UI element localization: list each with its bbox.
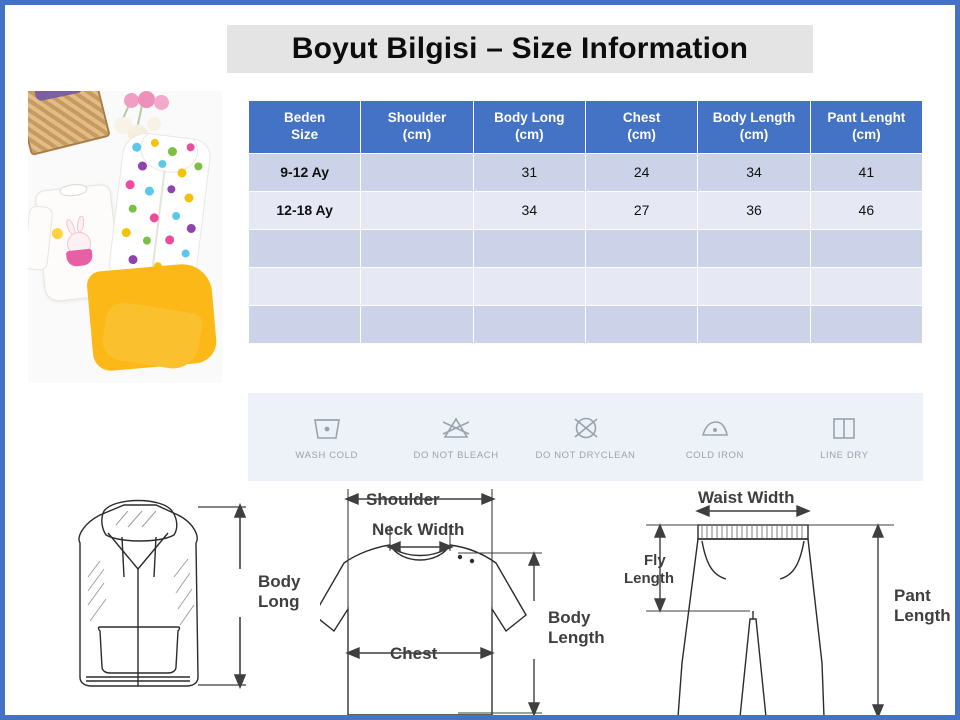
cell-shoulder: [361, 230, 472, 267]
polka-dot: [167, 185, 176, 194]
care-item-do-not-dryclean: DO NOT DRYCLEAN: [521, 413, 650, 461]
vest-body-long-label-line1: Body: [258, 572, 301, 591]
wash-cold-icon: [310, 413, 344, 443]
care-label: DO NOT DRYCLEAN: [536, 450, 636, 461]
table-row: 12-18 Ay 34 27 36 46: [249, 192, 922, 229]
pant-length-label-line2: Length: [894, 606, 951, 625]
cell-body-length: [698, 230, 809, 267]
cell-body-length: [698, 306, 809, 343]
header-line-1: Beden: [251, 110, 358, 127]
polka-dot: [142, 236, 151, 245]
vest-body-long-label-line2: Long: [258, 592, 300, 611]
hooded-vest-item: [107, 130, 212, 286]
cell-body-long: [474, 268, 585, 305]
cell-size: [249, 268, 360, 305]
hooded-vest-diagram: Body Long: [28, 481, 318, 720]
cell-shoulder: [361, 154, 472, 191]
cell-pant-lenght: 41: [811, 154, 922, 191]
care-label: LINE DRY: [820, 450, 868, 461]
care-label: WASH COLD: [295, 450, 358, 461]
care-item-do-not-bleach: DO NOT BLEACH: [391, 413, 520, 461]
line-dry-icon: [827, 413, 861, 443]
bunny-ear: [76, 215, 85, 233]
measurement-diagrams: Body Long: [10, 481, 960, 720]
polka-dot: [144, 186, 154, 196]
polka-dot: [128, 204, 137, 213]
fly-length-label-line1: Fly: [644, 552, 666, 569]
shirt-collar: [59, 183, 88, 198]
cell-size: 12-18 Ay: [249, 192, 360, 229]
cell-chest: 27: [586, 192, 697, 229]
care-item-line-dry: LINE DRY: [780, 413, 909, 461]
cell-chest: [586, 268, 697, 305]
table-header-row: Beden Size Shoulder (cm) Body Long (cm) …: [249, 101, 922, 153]
cell-body-long: 34: [474, 192, 585, 229]
cell-size: [249, 306, 360, 343]
care-instructions-strip: WASH COLD DO NOT BLEACH DO NOT DRYCL: [248, 393, 923, 481]
cell-pant-lenght: 46: [811, 192, 922, 229]
pants-diagram: Waist Width Fly Length Pant Length: [622, 481, 958, 720]
cell-body-length: 36: [698, 192, 809, 229]
cell-shoulder: [361, 268, 472, 305]
cold-iron-icon: [698, 413, 732, 443]
cell-shoulder: [361, 306, 472, 343]
flower-decor: [147, 117, 161, 131]
polka-dot: [184, 193, 194, 203]
pants-leg: [100, 300, 204, 372]
pants-item: [86, 262, 218, 372]
polka-dot: [177, 168, 187, 178]
care-label: COLD IRON: [686, 450, 744, 461]
size-information-page: Boyut Bilgisi – Size Information: [0, 0, 960, 720]
polka-dot: [128, 255, 138, 265]
header-line-2: (cm): [363, 127, 470, 144]
cell-size: [249, 230, 360, 267]
shoulder-label: Shoulder: [366, 490, 440, 509]
cell-body-length: [698, 268, 809, 305]
cell-pant-lenght: [811, 306, 922, 343]
care-item-cold-iron: COLD IRON: [650, 413, 779, 461]
sun-print: [51, 228, 63, 240]
cell-pant-lenght: [811, 268, 922, 305]
fly-length-label-line2: Length: [624, 570, 674, 587]
shirt-body-length-label-line2: Length: [548, 628, 605, 647]
cell-chest: [586, 306, 697, 343]
column-header-body-long: Body Long (cm): [474, 101, 585, 153]
do-not-dryclean-icon: [569, 413, 603, 443]
page-title-band: Boyut Bilgisi – Size Information: [227, 25, 813, 73]
polka-dot: [137, 161, 147, 171]
polka-dot: [172, 212, 181, 221]
page-title: Boyut Bilgisi – Size Information: [292, 32, 748, 66]
cell-size: 9-12 Ay: [249, 154, 360, 191]
neck-width-label: Neck Width: [372, 520, 464, 539]
table-row: 9-12 Ay 31 24 34 41: [249, 154, 922, 191]
flower-decor: [138, 91, 155, 108]
shirt-body-length-label-line1: Body: [548, 608, 591, 627]
bunny-dress: [66, 249, 94, 268]
chest-label: Chest: [390, 644, 438, 663]
column-header-chest: Chest (cm): [586, 101, 697, 153]
sweatshirt-diagram: Shoulder Neck Width Chest Body Length: [320, 481, 620, 720]
header-line-1: Chest: [588, 110, 695, 127]
header-line-2: (cm): [588, 127, 695, 144]
header-line-1: Shoulder: [363, 110, 470, 127]
header-line-1: Body Length: [700, 110, 807, 127]
cell-body-long: 31: [474, 154, 585, 191]
table-row: [249, 268, 922, 305]
header-line-1: Body Long: [476, 110, 583, 127]
care-item-wash-cold: WASH COLD: [262, 413, 391, 461]
polka-dot: [121, 228, 131, 238]
cell-body-long: [474, 230, 585, 267]
cell-body-long: [474, 306, 585, 343]
column-header-pant-lenght: Pant Lenght (cm): [811, 101, 922, 153]
pant-length-label-line1: Pant: [894, 586, 931, 605]
polka-dot: [125, 180, 135, 190]
flower-decor: [124, 93, 139, 108]
cell-chest: 24: [586, 154, 697, 191]
waist-width-label: Waist Width: [698, 488, 794, 507]
size-table: Beden Size Shoulder (cm) Body Long (cm) …: [248, 100, 923, 344]
header-line-2: (cm): [700, 127, 807, 144]
cell-body-length: 34: [698, 154, 809, 191]
header-line-1: Pant Lenght: [813, 110, 920, 127]
polka-dot: [181, 249, 190, 258]
care-label: DO NOT BLEACH: [413, 450, 498, 461]
flower-decor: [154, 95, 169, 110]
table-row: [249, 306, 922, 343]
table-row: [249, 230, 922, 267]
polka-dot: [165, 235, 175, 245]
column-header-shoulder: Shoulder (cm): [361, 101, 472, 153]
polka-dot: [186, 223, 196, 233]
cell-shoulder: [361, 192, 472, 229]
do-not-bleach-icon: [439, 413, 473, 443]
column-header-body-length: Body Length (cm): [698, 101, 809, 153]
polka-dot: [194, 162, 203, 171]
cell-pant-lenght: [811, 230, 922, 267]
shirt-sleeve: [28, 205, 54, 271]
header-line-2: Size: [251, 127, 358, 144]
header-line-2: (cm): [813, 127, 920, 144]
product-photo: [28, 91, 222, 383]
cell-chest: [586, 230, 697, 267]
header-line-2: (cm): [476, 127, 583, 144]
column-header-beden-size: Beden Size: [249, 101, 360, 153]
